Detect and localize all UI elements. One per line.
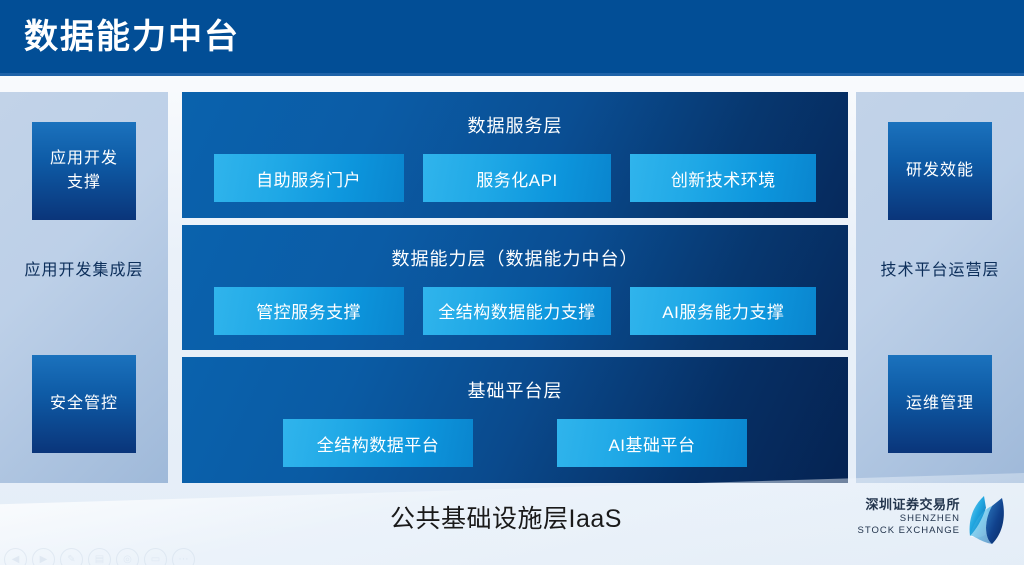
- right-column-label: 技术平台运营层: [856, 259, 1024, 283]
- layer-panel-data-service: 数据服务层 自助服务门户 服务化API 创新技术环境: [182, 92, 848, 218]
- search-icon[interactable]: ◎: [116, 548, 139, 565]
- szse-logo-text: 深圳证券交易所 SHENZHEN STOCK EXCHANGE: [856, 496, 960, 537]
- layer-panel-base-platform: 基础平台层 全结构数据平台 AI基础平台: [182, 357, 848, 483]
- right-column: 研发效能 技术平台运营层 运维管理: [856, 92, 1024, 483]
- footer-caption-iaas: 公共基础设施层IaaS: [390, 502, 622, 536]
- pen-icon[interactable]: ✎: [60, 548, 83, 565]
- chip-self-service-portal[interactable]: 自助服务门户: [214, 154, 404, 202]
- layer-panel-data-capability: 数据能力层（数据能力中台） 管控服务支撑 全结构数据能力支撑 AI服务能力支撑: [182, 225, 848, 351]
- szse-logo-en-line1: SHENZHEN: [856, 513, 960, 525]
- chip-governance-service-support[interactable]: 管控服务支撑: [214, 287, 404, 335]
- slide-canvas: 数据能力中台 应用开发 支撑 应用开发集成层 安全管控 数据服务层 自助服务门户…: [0, 0, 1024, 565]
- chip-innovation-tech-env[interactable]: 创新技术环境: [630, 154, 816, 202]
- ghost-toolbar[interactable]: ◀ ▶ ✎ ▤ ◎ ▭ ⋯: [4, 548, 195, 565]
- next-arrow-icon[interactable]: ▶: [32, 548, 55, 565]
- right-box-rd-efficiency[interactable]: 研发效能: [888, 122, 992, 220]
- left-box-app-dev-support-label: 应用开发 支撑: [50, 147, 118, 195]
- szse-logo-mark-icon: [964, 494, 1008, 552]
- page-title: 数据能力中台: [24, 14, 240, 60]
- right-box-ops-management[interactable]: 运维管理: [888, 355, 992, 453]
- chip-ai-service-capability[interactable]: AI服务能力支撑: [630, 287, 816, 335]
- szse-logo-cn: 深圳证券交易所: [856, 496, 960, 513]
- left-column-label: 应用开发集成层: [0, 259, 168, 283]
- header-divider: [0, 73, 1024, 76]
- save-icon[interactable]: ▤: [88, 548, 111, 565]
- chip-full-structure-data-platform[interactable]: 全结构数据平台: [283, 419, 473, 467]
- chip-row: 自助服务门户 服务化API 创新技术环境: [182, 154, 848, 202]
- chip-full-structure-data-capability[interactable]: 全结构数据能力支撑: [423, 287, 611, 335]
- szse-logo-en-line2: STOCK EXCHANGE: [856, 525, 960, 537]
- left-column: 应用开发 支撑 应用开发集成层 安全管控: [0, 92, 168, 483]
- layer-title: 数据服务层: [468, 114, 563, 138]
- chip-row: 管控服务支撑 全结构数据能力支撑 AI服务能力支撑: [182, 287, 848, 335]
- layer-title: 数据能力层（数据能力中台）: [392, 247, 639, 271]
- chip-row: 全结构数据平台 AI基础平台: [182, 419, 848, 467]
- prev-arrow-icon[interactable]: ◀: [4, 548, 27, 565]
- chip-service-api[interactable]: 服务化API: [423, 154, 611, 202]
- layer-stack: 数据服务层 自助服务门户 服务化API 创新技术环境 数据能力层（数据能力中台）…: [182, 92, 848, 483]
- layer-title: 基础平台层: [468, 379, 563, 403]
- left-box-app-dev-support[interactable]: 应用开发 支撑: [32, 122, 136, 220]
- szse-logo: 深圳证券交易所 SHENZHEN STOCK EXCHANGE: [856, 494, 1012, 556]
- more-icon[interactable]: ⋯: [172, 548, 195, 565]
- display-icon[interactable]: ▭: [144, 548, 167, 565]
- chip-ai-base-platform[interactable]: AI基础平台: [557, 419, 747, 467]
- left-box-security-control[interactable]: 安全管控: [32, 355, 136, 453]
